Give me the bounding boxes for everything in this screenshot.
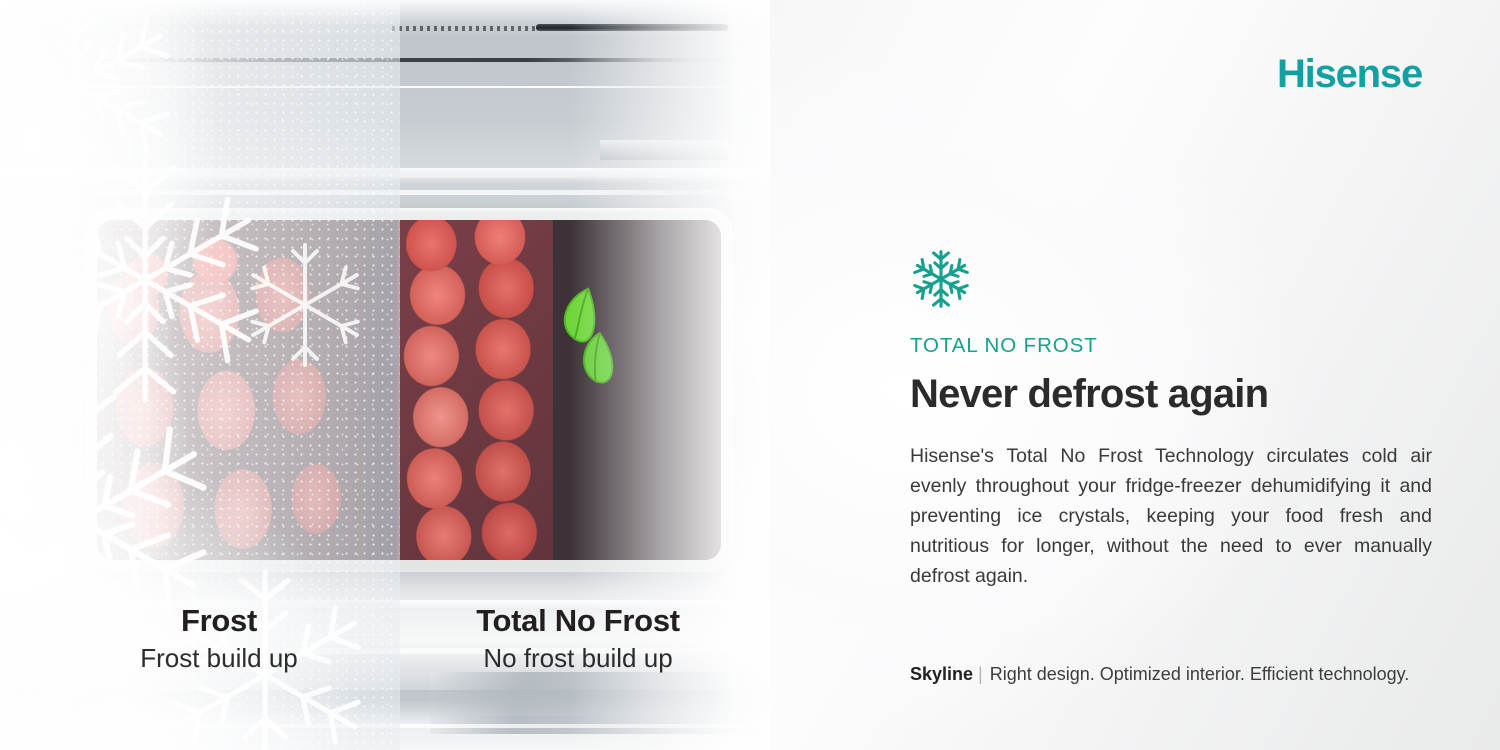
page-title: Never defrost again xyxy=(910,372,1432,417)
series-name: Skyline xyxy=(910,664,973,684)
frost-caption-subtitle: Frost build up xyxy=(88,643,350,674)
berry-tray-interior xyxy=(97,220,721,560)
promo-banner: Frost Frost build up Total No Frost No f… xyxy=(0,0,1500,750)
feature-description: Hisense's Total No Frost Technology circ… xyxy=(910,441,1432,591)
berry-tray xyxy=(85,208,733,572)
snowflake-icon xyxy=(910,248,972,310)
blueberries xyxy=(521,220,721,560)
content-panel: Hisense xyxy=(770,0,1500,750)
tagline-divider: | xyxy=(978,664,983,684)
fridge-vent-slot xyxy=(536,24,728,31)
feature-eyebrow: TOTAL NO FROST xyxy=(910,334,1432,358)
no-frost-caption: Total No Frost No frost build up xyxy=(438,604,718,674)
berries-group xyxy=(97,220,721,560)
strawberries xyxy=(97,220,378,560)
frost-caption-title: Frost xyxy=(88,604,350,639)
no-frost-caption-title: Total No Frost xyxy=(438,604,718,639)
no-frost-caption-subtitle: No frost build up xyxy=(438,643,718,674)
feature-block: TOTAL NO FROST Never defrost again Hisen… xyxy=(910,248,1432,591)
hisense-logo: Hisense xyxy=(1277,52,1422,97)
fridge-bottom-panel xyxy=(430,672,800,734)
frost-caption: Frost Frost build up xyxy=(88,604,350,674)
series-tagline: Skyline|Right design. Optimized interior… xyxy=(910,664,1450,685)
comparison-image-panel: Frost Frost build up Total No Frost No f… xyxy=(0,0,800,750)
tagline-text: Right design. Optimized interior. Effici… xyxy=(990,664,1410,684)
fridge-vent-dots xyxy=(392,26,540,31)
fridge-drawer-edge xyxy=(600,140,728,160)
